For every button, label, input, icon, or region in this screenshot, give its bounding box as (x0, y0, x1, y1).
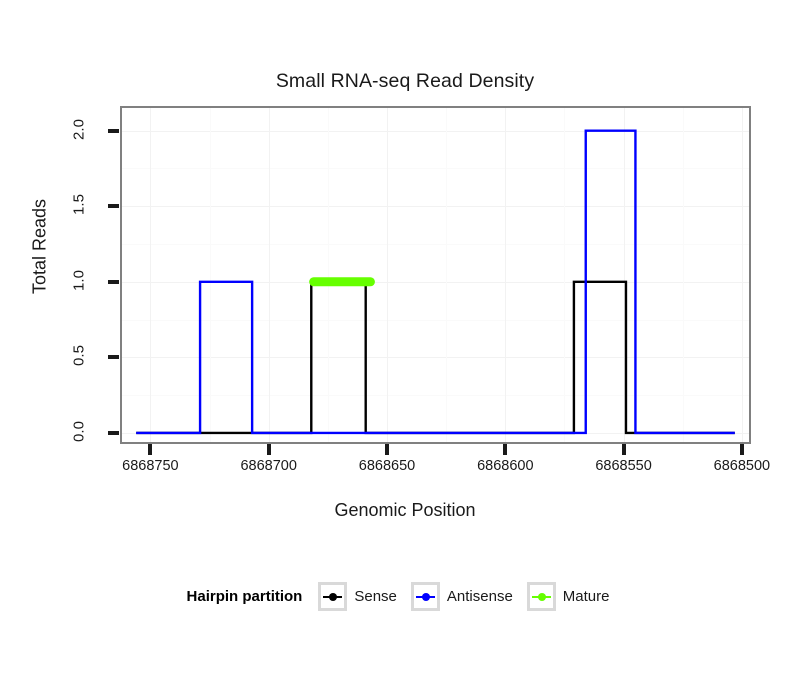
series-line-antisense (136, 131, 735, 433)
x-tick-mark (385, 444, 389, 455)
x-tick-mark (622, 444, 626, 455)
legend-key-mature-icon (527, 582, 556, 611)
y-tick-label: 1.0 (71, 257, 88, 303)
plot-panel (120, 106, 751, 444)
legend-key-dot (329, 593, 337, 601)
x-axis-title: Genomic Position (0, 500, 810, 521)
y-tick-mark (108, 204, 119, 208)
x-tick-label: 6868600 (450, 458, 560, 474)
series-line-sense (136, 282, 735, 433)
legend-item-sense[interactable]: Sense (318, 582, 397, 611)
x-tick-label: 6868750 (95, 458, 205, 474)
legend-item-mature[interactable]: Mature (527, 582, 610, 611)
y-tick-label: 0.0 (71, 408, 88, 454)
y-tick-label: 1.5 (71, 182, 88, 228)
legend-label: Mature (563, 588, 610, 605)
x-tick-label: 6868550 (569, 458, 679, 474)
x-tick-label: 6868650 (332, 458, 442, 474)
data-layer (122, 108, 749, 442)
legend-label: Antisense (447, 588, 513, 605)
legend: Hairpin partition SenseAntisenseMature (0, 582, 810, 611)
y-tick-mark (108, 280, 119, 284)
y-tick-mark (108, 355, 119, 359)
chart-page: Small RNA-seq Read Density 0.00.51.01.52… (0, 0, 810, 690)
legend-key-dot (538, 593, 546, 601)
y-tick-mark (108, 431, 119, 435)
legend-item-antisense[interactable]: Antisense (411, 582, 513, 611)
y-tick-mark (108, 129, 119, 133)
x-tick-label: 6868500 (687, 458, 797, 474)
y-tick-label: 0.5 (71, 333, 88, 379)
legend-key-antisense-icon (411, 582, 440, 611)
y-tick-label: 2.0 (71, 106, 88, 152)
x-tick-mark (740, 444, 744, 455)
chart-title: Small RNA-seq Read Density (0, 70, 810, 93)
x-tick-label: 6868700 (214, 458, 324, 474)
x-tick-mark (267, 444, 271, 455)
legend-items: SenseAntisenseMature (318, 582, 623, 611)
legend-key-dot (422, 593, 430, 601)
x-tick-mark (503, 444, 507, 455)
legend-label: Sense (354, 588, 397, 605)
legend-title: Hairpin partition (187, 588, 303, 605)
y-axis-title: Total Reads (30, 132, 51, 362)
legend-key-sense-icon (318, 582, 347, 611)
x-tick-mark (148, 444, 152, 455)
